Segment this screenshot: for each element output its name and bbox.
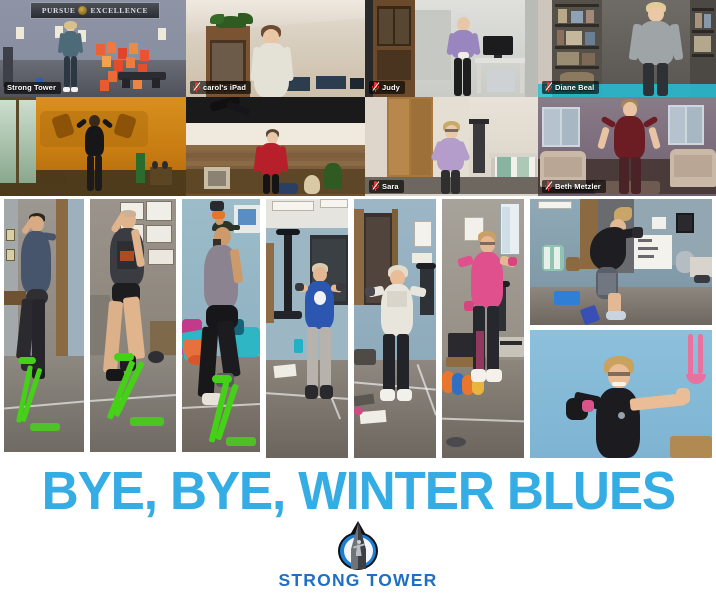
participant-nameplate: Sara — [369, 180, 404, 193]
participant-name: Sara — [382, 182, 399, 191]
wall-banner: PURSUE EXCELLENCE — [30, 2, 160, 19]
brand-logo: STRONG TOWER — [0, 521, 716, 591]
mic-muted-icon — [372, 82, 379, 92]
headline-text: BYE, BYE, WINTER BLUES — [41, 463, 674, 519]
participant-name: Beth Metzler — [555, 182, 601, 191]
human-figure-icon — [354, 540, 364, 562]
poster-headline: BYE, BYE, WINTER BLUES — [0, 462, 716, 520]
participant-nameplate: Diane Beal — [542, 81, 599, 94]
video-feed — [0, 97, 186, 196]
video-tile-orange-studio[interactable] — [0, 97, 186, 196]
banner-text-right: EXCELLENCE — [90, 6, 148, 15]
mic-muted-icon — [545, 181, 552, 191]
video-tile-beth-metzler[interactable]: Beth Metzler — [538, 97, 716, 196]
video-tile-carols-ipad[interactable]: carol's iPad — [186, 0, 365, 97]
video-tile-strong-tower[interactable]: PURSUE EXCELLENCE — [0, 0, 186, 97]
collage-photo[interactable] — [182, 199, 260, 452]
collage-photo[interactable] — [4, 199, 84, 452]
video-tile-judy[interactable]: Judy — [365, 0, 538, 97]
collage-photo[interactable] — [530, 199, 712, 325]
collage-photo[interactable] — [530, 330, 712, 458]
video-feed — [186, 97, 365, 196]
participant-nameplate: carol's iPad — [190, 81, 251, 94]
video-tile-diane-beal[interactable]: Diane Beal — [538, 0, 716, 97]
poster-canvas: PURSUE EXCELLENCE — [0, 0, 716, 600]
collage-photo[interactable] — [90, 199, 176, 452]
strong-tower-droplet-icon — [331, 521, 385, 568]
mic-muted-icon — [193, 82, 200, 92]
participant-nameplate: Strong Tower — [4, 82, 61, 94]
mic-muted-icon — [372, 181, 379, 191]
zoom-gallery-grid: PURSUE EXCELLENCE — [0, 0, 716, 196]
collage-photo[interactable] — [354, 199, 436, 458]
brand-wordmark: STRONG TOWER — [279, 570, 438, 591]
sticky-note-cluster — [92, 40, 174, 90]
participant-name: Strong Tower — [7, 83, 56, 92]
video-tile-sara[interactable]: Sara — [365, 97, 538, 196]
photo-collage-strip — [0, 199, 716, 461]
participant-name: carol's iPad — [203, 83, 246, 92]
banner-crest-icon — [78, 6, 87, 15]
mic-muted-icon — [545, 82, 552, 92]
participant-nameplate: Judy — [369, 81, 405, 94]
collage-photo[interactable] — [266, 199, 348, 458]
banner-text-left: PURSUE — [42, 6, 76, 15]
video-tile-log-cabin[interactable] — [186, 97, 365, 196]
participant-name: Judy — [382, 83, 400, 92]
participant-nameplate: Beth Metzler — [542, 180, 606, 193]
participant-name: Diane Beal — [555, 83, 594, 92]
collage-photo[interactable] — [442, 199, 524, 458]
